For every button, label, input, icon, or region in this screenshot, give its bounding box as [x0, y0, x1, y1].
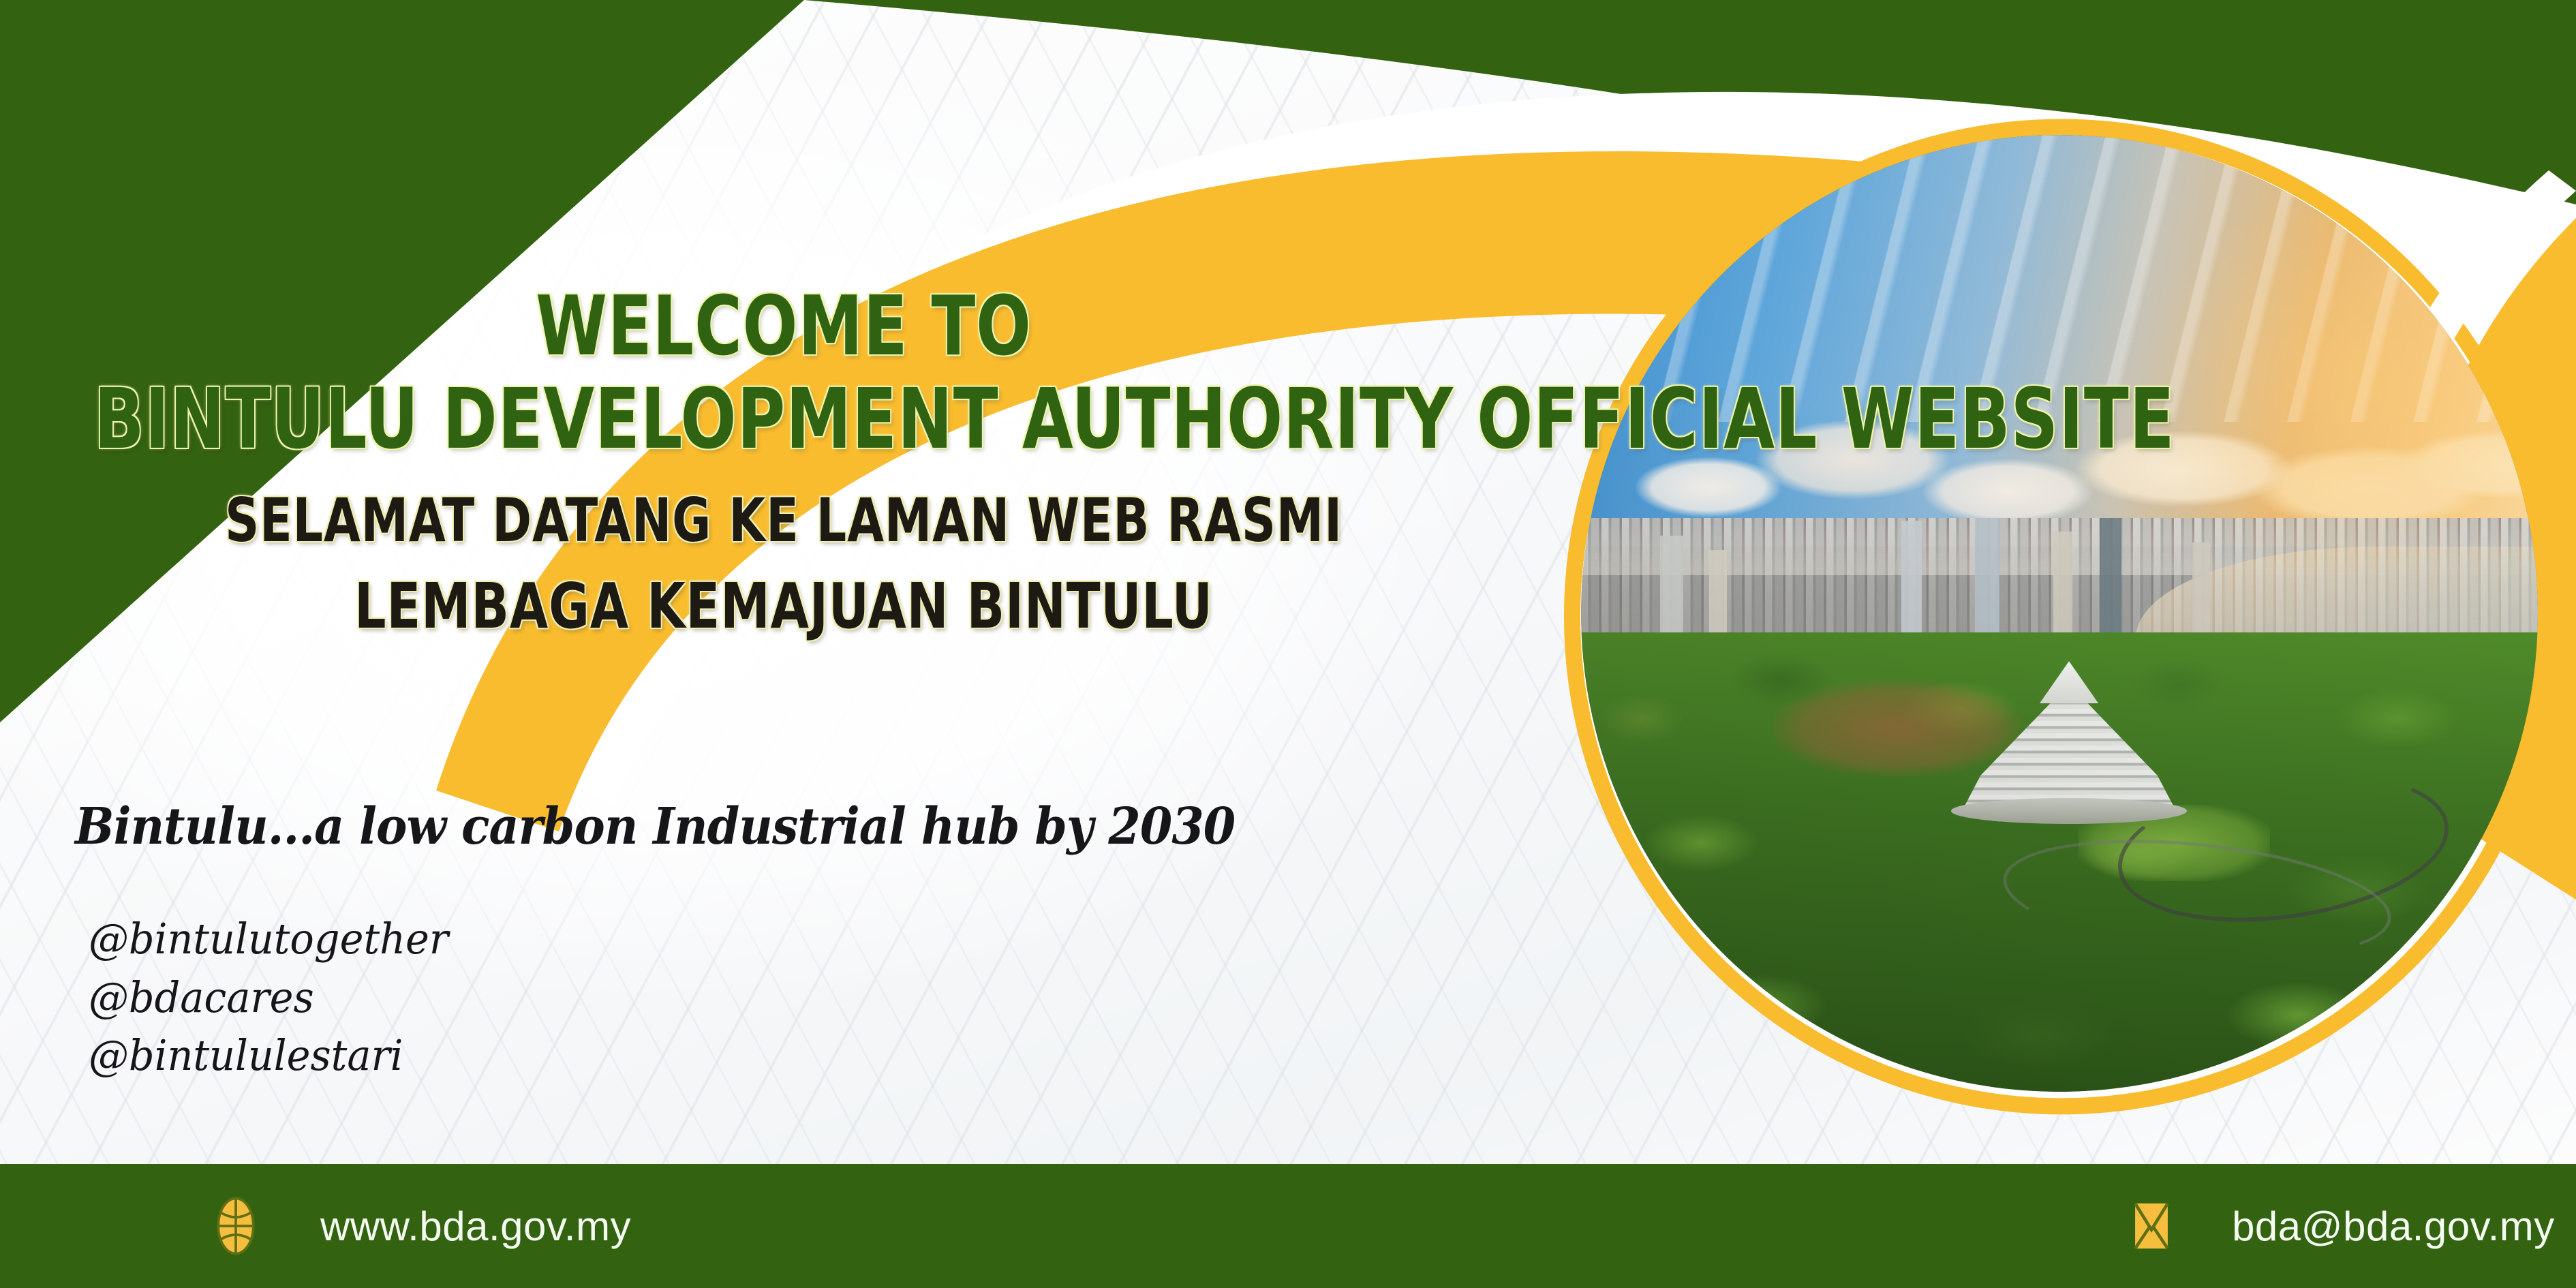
footer-email-text: bda@bda.gov.my: [2232, 1203, 2555, 1250]
envelope-icon: [2120, 1195, 2183, 1257]
bda-welcome-banner: WELCOME TO BINTULU DEVELOPMENT AUTHORITY…: [0, 0, 2576, 1288]
cone-podium: [1951, 798, 2187, 824]
tagline: Bintulu...a low carbon Industrial hub by…: [75, 797, 1235, 856]
photo-conical-landmark-building: [1964, 661, 2175, 824]
social-handle-bintululestari: @bintululestari: [89, 1026, 448, 1085]
globe-icon: [204, 1195, 267, 1257]
headline-line-lembaga: LEMBAGA KEMAJUAN BINTULU: [94, 575, 1473, 638]
headline-block: WELCOME TO BINTULU DEVELOPMENT AUTHORITY…: [0, 286, 1567, 638]
bintulu-aerial-photo: [1581, 135, 2538, 1092]
headline-line-selamat: SELAMAT DATANG KE LAMAN WEB RASMI: [94, 491, 1473, 551]
footer-bar: www.bda.gov.my bda@bda.gov.my: [0, 1164, 2576, 1288]
photo-canvas: [1581, 135, 2538, 1092]
social-handle-bintulutogether: @bintulutogether: [89, 910, 448, 968]
headline-line-authority: BINTULU DEVELOPMENT AUTHORITY OFFICIAL W…: [94, 378, 1473, 461]
social-handle-bdacares: @bdacares: [89, 968, 448, 1027]
social-handles-list: @bintulutogether @bdacares @bintululesta…: [89, 910, 467, 1085]
headline-line-welcome: WELCOME TO: [94, 286, 1473, 368]
photo-high-rise-towers: [1619, 518, 2327, 652]
footer-website-item[interactable]: www.bda.gov.my: [204, 1195, 631, 1257]
cone-apex: [2040, 661, 2098, 703]
footer-email-item[interactable]: bda@bda.gov.my: [2120, 1195, 2555, 1257]
footer-website-text: www.bda.gov.my: [320, 1203, 631, 1250]
